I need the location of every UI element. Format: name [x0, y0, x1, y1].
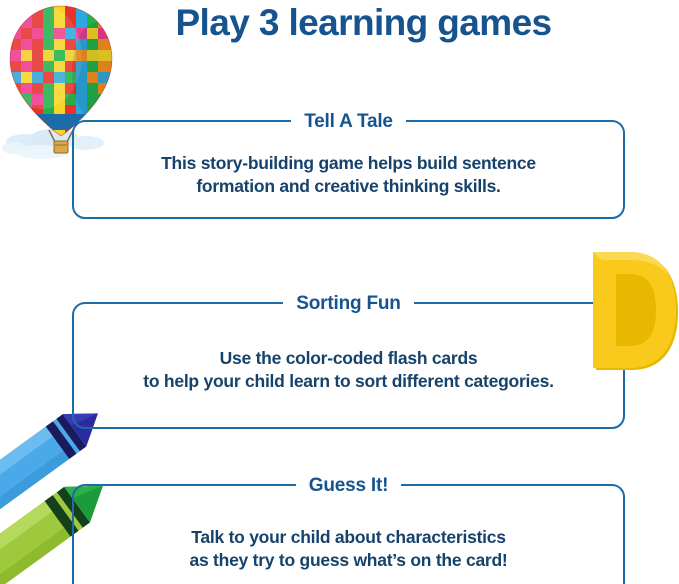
- page-title: Play 3 learning games: [0, 0, 679, 46]
- game-card-guess-it: Guess It! Talk to your child about chara…: [72, 484, 625, 584]
- card-description: This story-building game helps build sen…: [74, 122, 623, 217]
- card-description: Talk to your child about characteristics…: [74, 486, 623, 584]
- card-description: Use the color-coded flash cards to help …: [74, 304, 623, 427]
- balloon-basket-icon: [49, 130, 73, 153]
- game-card-sorting-fun: Sorting Fun Use the color-coded flash ca…: [72, 302, 625, 429]
- game-card-tell-a-tale: Tell A Tale This story-building game hel…: [72, 120, 625, 219]
- promo-graphic: Play 3 learning games: [0, 0, 679, 584]
